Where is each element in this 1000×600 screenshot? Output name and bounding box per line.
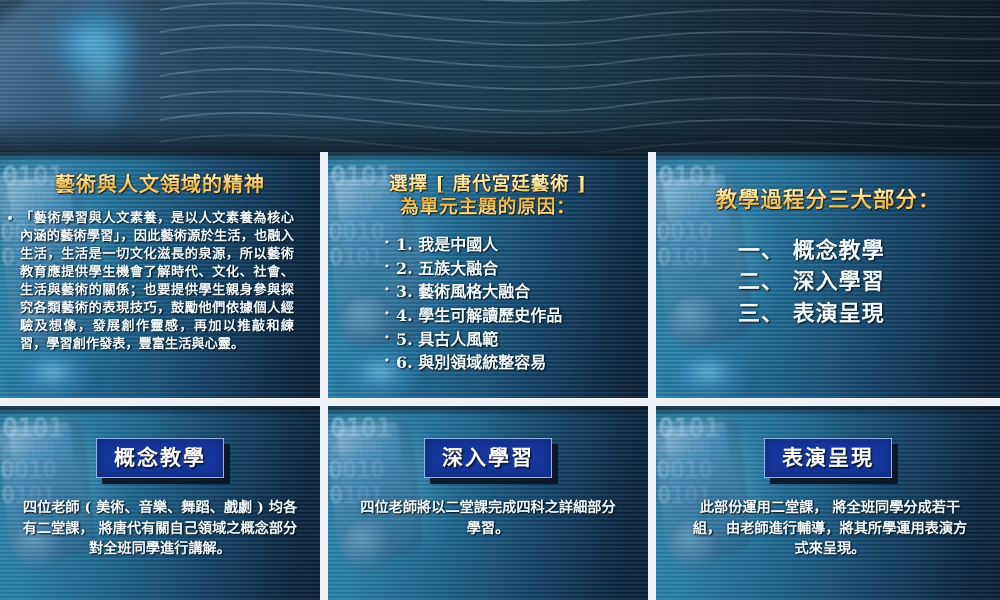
list-item: 6. 與別領域統整容易 [384, 351, 636, 375]
slide-grid-stage: 0101 01001101 100110 0010 0101 藝術與人文領域的精… [0, 0, 1000, 600]
reasons-list: 1. 我是中國人 2. 五族大融合 3. 藝術風格大融合 4. 學生可解讀歷史作… [340, 233, 636, 375]
slide-panel-top-right[interactable]: 0101 01001101 100110 0010 0101 教學過程分三大部分… [656, 152, 1000, 398]
top-banner-image [0, 0, 1000, 152]
stage-badge: 深入學習 [424, 438, 552, 478]
panel-title: 藝術與人文領域的精神 [12, 172, 308, 196]
list-item: 5. 具古人風範 [384, 328, 636, 352]
panel-title-line-2: 為單元主題的原因： [340, 197, 636, 220]
panel-title-line-1: 選擇 [ 唐代宮廷藝術 ] [340, 174, 636, 197]
panel-body: 四位老師 ( 美術、音樂、舞蹈、戲劇 ) 均各有二堂課， 將唐代有關自己領域之概… [12, 498, 308, 560]
slide-panel-top-middle[interactable]: 0101 01001101 100110 0010 0101 選擇 [ 唐代宮廷… [328, 152, 648, 398]
grid-gap-h2 [328, 398, 648, 406]
stage-badge: 概念教學 [96, 438, 224, 478]
badge-wrapper: 概念教學 [96, 438, 224, 478]
list-item: 二、 深入學習 [738, 267, 988, 298]
list-item: 一、 概念教學 [738, 236, 988, 267]
panel-content: 概念教學 四位老師 ( 美術、音樂、舞蹈、戲劇 ) 均各有二堂課， 將唐代有關自… [0, 406, 320, 600]
panel-title: 教學過程分三大部分： [668, 188, 988, 214]
list-item: 4. 學生可解讀歷史作品 [384, 304, 636, 328]
panel-content: 表演呈現 此部份運用二堂課， 將全班同學分成若干組， 由老師進行輔導，將其所學運… [656, 406, 1000, 600]
stage-badge: 表演呈現 [764, 438, 892, 478]
bullet-icon [8, 216, 12, 220]
panel-content: 教學過程分三大部分： 一、 概念教學 二、 深入學習 三、 表演呈現 [656, 152, 1000, 398]
panel-content: 藝術與人文領域的精神 「藝術學習與人文素養，是以人文素養為核心內涵的藝術學習」，… [0, 152, 320, 398]
grid-gap-cross2 [648, 398, 656, 406]
grid-gap-h1 [0, 398, 320, 406]
grid-gap-v1 [320, 152, 328, 398]
slide-panel-bottom-left[interactable]: 0101 01001101 0010 0101 概念教學 四位老師 ( 美術、音… [0, 406, 320, 600]
badge-wrapper: 深入學習 [424, 438, 552, 478]
grid-gap-v3 [320, 406, 328, 600]
badge-wrapper: 表演呈現 [764, 438, 892, 478]
panel-content: 選擇 [ 唐代宮廷藝術 ] 為單元主題的原因： 1. 我是中國人 2. 五族大融… [328, 152, 648, 398]
slide-panel-bottom-right[interactable]: 0101 01001101 0010 0101 表演呈現 此部份運用二堂課， 將… [656, 406, 1000, 600]
list-item: 三、 表演呈現 [738, 299, 988, 330]
slide-panel-bottom-middle[interactable]: 0101 01001101 0010 0101 深入學習 四位老師將以二堂課完成… [328, 406, 648, 600]
list-item: 3. 藝術風格大融合 [384, 280, 636, 304]
grid-gap-v2 [648, 152, 656, 398]
slide-panel-top-left[interactable]: 0101 01001101 100110 0010 0101 藝術與人文領域的精… [0, 152, 320, 398]
panel-body-text: 「藝術學習與人文素養，是以人文素養為核心內涵的藝術學習」，因此藝術源於生活，也融… [20, 211, 294, 352]
panel-grid: 0101 01001101 100110 0010 0101 藝術與人文領域的精… [0, 152, 1000, 600]
panel-body: 四位老師將以二堂課完成四科之詳細部分學習。 [340, 498, 636, 539]
panel-body: 「藝術學習與人文素養，是以人文素養為核心內涵的藝術學習」，因此藝術源於生活，也融… [12, 210, 308, 354]
grid-gap-h3 [656, 398, 1000, 406]
stages-list: 一、 概念教學 二、 深入學習 三、 表演呈現 [668, 236, 988, 330]
banner-bottom-shade [0, 116, 1000, 152]
panel-body: 此部份運用二堂課， 將全班同學分成若干組， 由老師進行輔導，將其所學運用表演方式… [668, 498, 988, 560]
list-item: 2. 五族大融合 [384, 257, 636, 281]
grid-gap-v4 [648, 406, 656, 600]
list-item: 1. 我是中國人 [384, 233, 636, 257]
panel-content: 深入學習 四位老師將以二堂課完成四科之詳細部分學習。 [328, 406, 648, 600]
grid-gap-cross1 [320, 398, 328, 406]
panel-title: 選擇 [ 唐代宮廷藝術 ] 為單元主題的原因： [340, 174, 636, 219]
